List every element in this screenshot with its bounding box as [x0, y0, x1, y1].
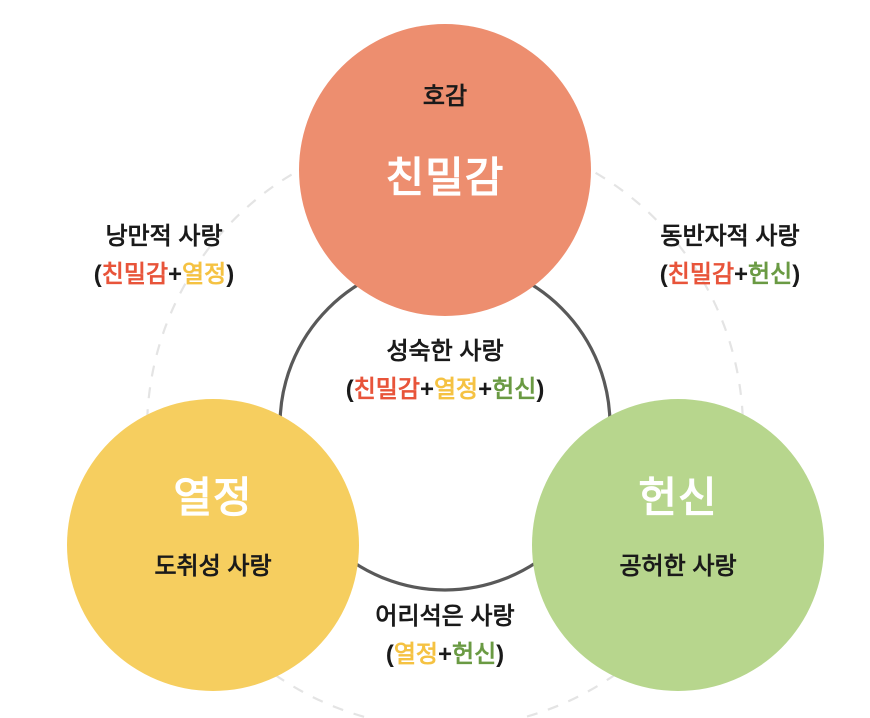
formula-part-commitment: 헌신 — [492, 376, 536, 403]
romantic-love-formula: (친밀감+열정) — [24, 263, 304, 287]
formula-part-passion: 열정 — [182, 261, 226, 288]
passion-sub-label: 도취성 사랑 — [63, 555, 363, 579]
formula-part-intimacy: 친밀감 — [668, 261, 734, 288]
formula-part-passion: 열정 — [394, 641, 438, 668]
fatuous-love-label[interactable]: 어리석은 사랑 (열정+헌신) — [295, 605, 595, 667]
open-paren: ( — [660, 261, 668, 288]
close-paren: ) — [226, 261, 234, 288]
open-paren: ( — [386, 641, 394, 668]
open-paren: ( — [94, 261, 102, 288]
formula-part-passion: 열정 — [434, 376, 478, 403]
consummate-love-formula: (친밀감+열정+헌신) — [295, 378, 595, 402]
fatuous-love-title: 어리석은 사랑 — [295, 605, 595, 629]
commitment-sub-label: 공허한 사랑 — [528, 555, 828, 579]
consummate-love-title: 성숙한 사랑 — [295, 340, 595, 364]
open-paren: ( — [346, 376, 354, 403]
formula-part-intimacy: 친밀감 — [354, 376, 420, 403]
plus-sign-2: + — [478, 376, 492, 403]
intimacy-top-label: 호감 — [295, 85, 595, 109]
intimacy-name: 친밀감 — [295, 157, 595, 199]
commitment-name: 헌신 — [528, 477, 828, 519]
romantic-love-label[interactable]: 낭만적 사랑 (친밀감+열정) — [24, 225, 304, 287]
romantic-love-title: 낭만적 사랑 — [24, 225, 304, 249]
companionate-love-formula: (친밀감+헌신) — [590, 263, 870, 287]
fatuous-love-formula: (열정+헌신) — [295, 643, 595, 667]
companionate-love-label[interactable]: 동반자적 사랑 (친밀감+헌신) — [590, 225, 870, 287]
formula-part-commitment: 헌신 — [452, 641, 496, 668]
formula-part-intimacy: 친밀감 — [102, 261, 168, 288]
close-paren: ) — [496, 641, 504, 668]
plus-sign: + — [734, 261, 748, 288]
plus-sign: + — [168, 261, 182, 288]
plus-sign: + — [438, 641, 452, 668]
commitment-circle-text: 헌신 공허한 사랑 — [528, 477, 828, 579]
intimacy-circle-text: 호감 친밀감 — [295, 85, 595, 199]
close-paren: ) — [536, 376, 544, 403]
passion-name: 열정 — [63, 477, 363, 519]
plus-sign-1: + — [420, 376, 434, 403]
close-paren: ) — [792, 261, 800, 288]
love-triangle-diagram: 호감 친밀감 열정 도취성 사랑 헌신 공허한 사랑 낭만적 사랑 (친밀감+열… — [0, 0, 870, 718]
consummate-love-label[interactable]: 성숙한 사랑 (친밀감+열정+헌신) — [295, 340, 595, 402]
formula-part-commitment: 헌신 — [748, 261, 792, 288]
passion-circle-text: 열정 도취성 사랑 — [63, 477, 363, 579]
companionate-love-title: 동반자적 사랑 — [590, 225, 870, 249]
